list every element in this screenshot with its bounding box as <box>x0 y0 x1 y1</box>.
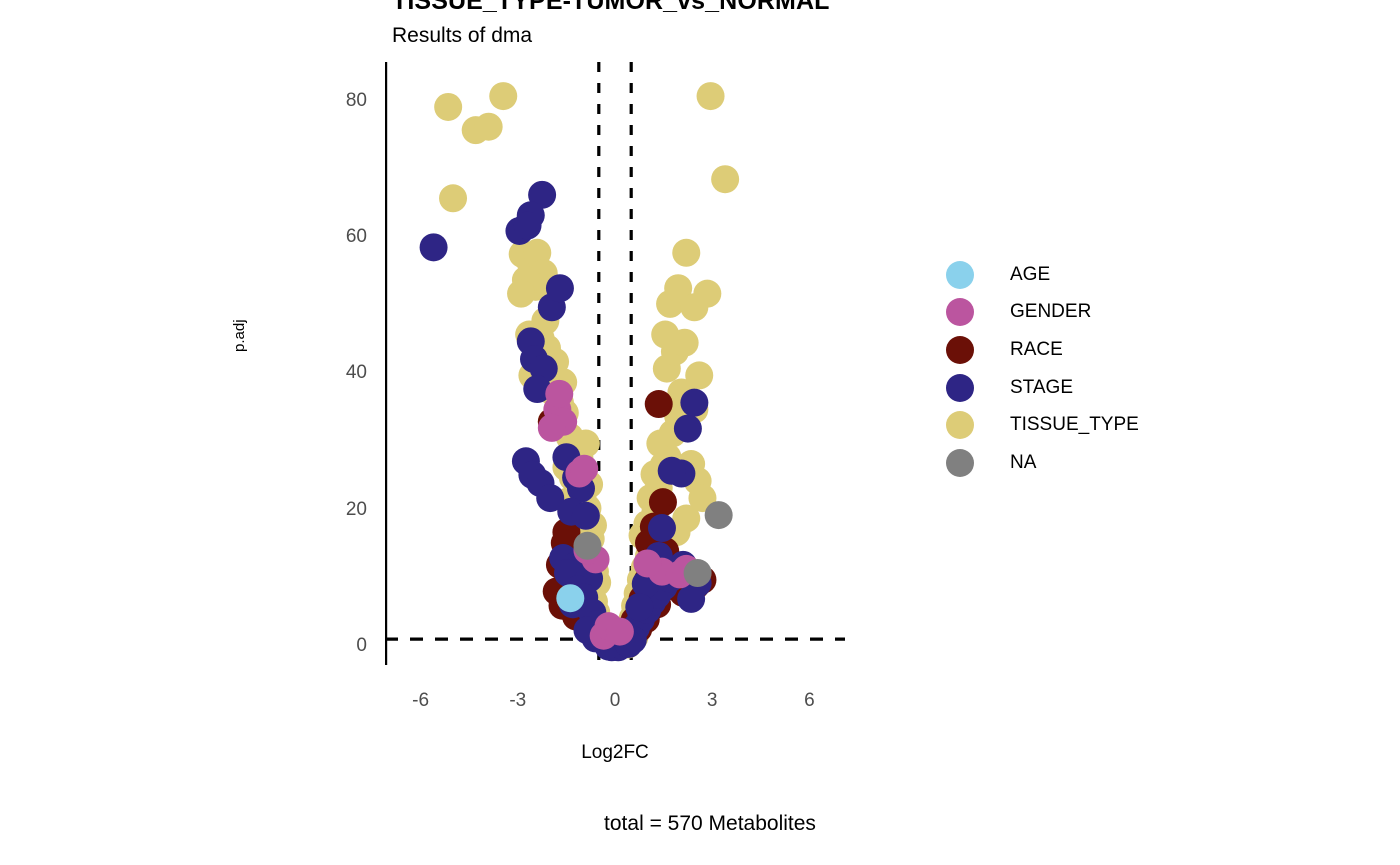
data-point <box>538 414 566 442</box>
x-tick-label: 3 <box>682 690 742 712</box>
legend-swatch <box>940 256 980 294</box>
data-point <box>625 593 653 621</box>
data-point <box>556 584 584 612</box>
data-points <box>420 82 740 661</box>
plot-subtitle: Results of dma <box>392 24 532 48</box>
data-point <box>573 532 601 560</box>
legend-item-stage[interactable]: STAGE <box>940 369 1260 407</box>
circle-icon <box>946 411 974 439</box>
y-tick-label: 60 <box>307 226 367 248</box>
legend-item-age[interactable]: AGE <box>940 256 1260 294</box>
data-point <box>475 113 503 141</box>
data-point <box>680 293 708 321</box>
volcano-plot-figure: TISSUE_TYPE-TUMOR_vs_NORMAL Results of d… <box>0 0 1400 865</box>
circle-icon <box>946 374 974 402</box>
plot-panel <box>385 62 845 665</box>
data-point <box>645 390 673 418</box>
legend-swatch <box>940 294 980 332</box>
plot-caption: total = 570 Metabolites <box>0 812 1400 836</box>
data-point <box>514 212 542 240</box>
series-age <box>556 584 584 612</box>
circle-icon <box>946 449 974 477</box>
data-point <box>648 514 676 542</box>
circle-icon <box>946 336 974 364</box>
legend-item-label: TISSUE_TYPE <box>1010 414 1139 436</box>
data-point <box>572 502 600 530</box>
scatter-canvas <box>385 62 845 665</box>
data-point <box>651 321 679 349</box>
data-point <box>658 457 686 485</box>
data-point <box>697 82 725 110</box>
y-tick-label: 80 <box>307 90 367 112</box>
legend-item-label: RACE <box>1010 339 1063 361</box>
data-point <box>545 380 573 408</box>
data-point <box>489 82 517 110</box>
y-tick-label: 40 <box>307 362 367 384</box>
x-tick-label: -6 <box>391 690 451 712</box>
x-tick-label: 6 <box>779 690 839 712</box>
legend-item-race[interactable]: RACE <box>940 331 1260 369</box>
legend-swatch <box>940 444 980 482</box>
legend: AGEGENDERRACESTAGETISSUE_TYPENA <box>940 256 1260 482</box>
data-point <box>633 549 661 577</box>
legend-swatch <box>940 369 980 407</box>
legend-item-label: STAGE <box>1010 377 1073 399</box>
legend-swatch <box>940 406 980 444</box>
x-tick-label: 0 <box>585 690 645 712</box>
threshold-lines <box>385 62 845 665</box>
legend-item-label: NA <box>1010 452 1036 474</box>
x-axis-title: Log2FC <box>385 742 845 764</box>
y-tick-label: 0 <box>307 635 367 657</box>
data-point <box>674 415 702 443</box>
axis-lines <box>385 62 845 665</box>
data-point <box>439 184 467 212</box>
y-axis-title: p.adj <box>231 319 248 352</box>
data-point <box>684 559 712 587</box>
data-point <box>434 93 462 121</box>
circle-icon <box>946 261 974 289</box>
data-point <box>705 501 733 529</box>
data-point <box>711 165 739 193</box>
legend-item-label: AGE <box>1010 264 1050 286</box>
legend-item-label: GENDER <box>1010 301 1091 323</box>
data-point <box>546 274 574 302</box>
data-point <box>536 484 564 512</box>
y-tick-label: 20 <box>307 499 367 521</box>
data-point <box>685 361 713 389</box>
data-point <box>606 618 634 646</box>
data-point <box>649 488 677 516</box>
data-point <box>570 455 598 483</box>
data-point <box>680 389 708 417</box>
circle-icon <box>946 298 974 326</box>
data-point <box>420 233 448 261</box>
data-point <box>672 239 700 267</box>
x-tick-label: -3 <box>488 690 548 712</box>
legend-item-gender[interactable]: GENDER <box>940 294 1260 332</box>
legend-item-tissue_type[interactable]: TISSUE_TYPE <box>940 406 1260 444</box>
page-title: TISSUE_TYPE-TUMOR_vs_NORMAL <box>392 0 830 16</box>
data-point <box>507 280 535 308</box>
legend-item-na[interactable]: NA <box>940 444 1260 482</box>
data-point <box>677 585 705 613</box>
legend-swatch <box>940 331 980 369</box>
